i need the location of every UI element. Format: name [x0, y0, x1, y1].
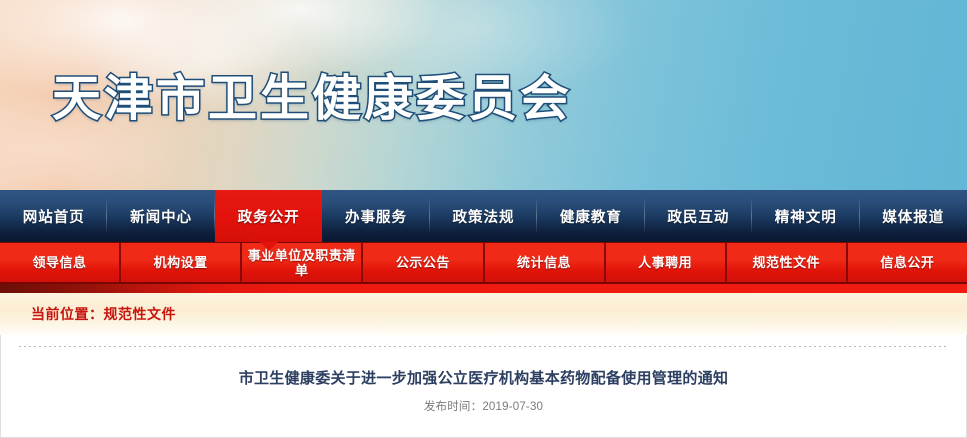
nav-item-home[interactable]: 网站首页 — [0, 190, 107, 242]
subnav-item-label: 事业单位及职责清单 — [245, 248, 358, 278]
nav-item-label: 新闻中心 — [130, 206, 192, 227]
nav-item-label: 办事服务 — [345, 206, 407, 227]
divider — [19, 346, 948, 347]
nav-item-spiritual-civilization[interactable]: 精神文明 — [752, 190, 859, 242]
nav-item-public-interaction[interactable]: 政民互动 — [645, 190, 752, 242]
nav-item-policies-regulations[interactable]: 政策法规 — [430, 190, 537, 242]
nav-item-label: 健康教育 — [560, 206, 622, 227]
subnav-item-leadership-info[interactable]: 领导信息 — [0, 243, 121, 282]
nav-item-health-education[interactable]: 健康教育 — [537, 190, 644, 242]
sub-navigation: 领导信息 机构设置 事业单位及职责清单 公示公告 统计信息 人事聘用 规范性文件… — [0, 242, 967, 284]
subnav-item-label: 信息公开 — [880, 255, 934, 270]
subnav-item-label: 规范性文件 — [753, 255, 821, 270]
subnav-item-statistics[interactable]: 统计信息 — [485, 243, 606, 282]
nav-item-label: 政务公开 — [238, 206, 300, 227]
subnav-item-information-disclosure[interactable]: 信息公开 — [848, 243, 967, 282]
nav-item-government-affairs[interactable]: 政务公开 — [215, 190, 322, 242]
nav-item-label: 精神文明 — [775, 206, 837, 227]
main-navigation: 网站首页 新闻中心 政务公开 办事服务 政策法规 健康教育 政民互动 精神文明 … — [0, 190, 967, 242]
breadcrumb-bar: 当前位置：规范性文件 — [0, 293, 967, 335]
subnav-item-label: 公示公告 — [396, 255, 450, 270]
nav-item-label: 政策法规 — [452, 206, 514, 227]
subnav-item-organization-setup[interactable]: 机构设置 — [121, 243, 242, 282]
subnav-item-label: 机构设置 — [154, 255, 208, 270]
site-title: 天津市卫生健康委员会 — [52, 59, 572, 130]
nav-item-media-reports[interactable]: 媒体报道 — [860, 190, 967, 242]
nav-item-services[interactable]: 办事服务 — [322, 190, 429, 242]
page-title: 市卫生健康委关于进一步加强公立医疗机构基本药物配备使用管理的通知 — [1, 367, 966, 388]
publish-date: 发布时间：2019-07-30 — [1, 398, 966, 414]
subnav-item-personnel-recruitment[interactable]: 人事聘用 — [606, 243, 727, 282]
subnav-item-normative-documents[interactable]: 规范性文件 — [727, 243, 848, 282]
article-area: 市卫生健康委关于进一步加强公立医疗机构基本药物配备使用管理的通知 发布时间：20… — [0, 335, 967, 438]
subnav-item-label: 人事聘用 — [638, 255, 692, 270]
breadcrumb: 当前位置：规范性文件 — [31, 304, 176, 324]
breadcrumb-accent-bar — [0, 284, 967, 293]
site-banner: 天津市卫生健康委员会 — [0, 0, 967, 190]
subnav-item-label: 领导信息 — [33, 255, 87, 270]
nav-item-news-center[interactable]: 新闻中心 — [107, 190, 214, 242]
subnav-item-public-announcements[interactable]: 公示公告 — [363, 243, 484, 282]
nav-item-label: 政民互动 — [667, 206, 729, 227]
subnav-item-label: 统计信息 — [517, 255, 571, 270]
nav-item-label: 网站首页 — [23, 206, 85, 227]
nav-item-label: 媒体报道 — [882, 206, 944, 227]
